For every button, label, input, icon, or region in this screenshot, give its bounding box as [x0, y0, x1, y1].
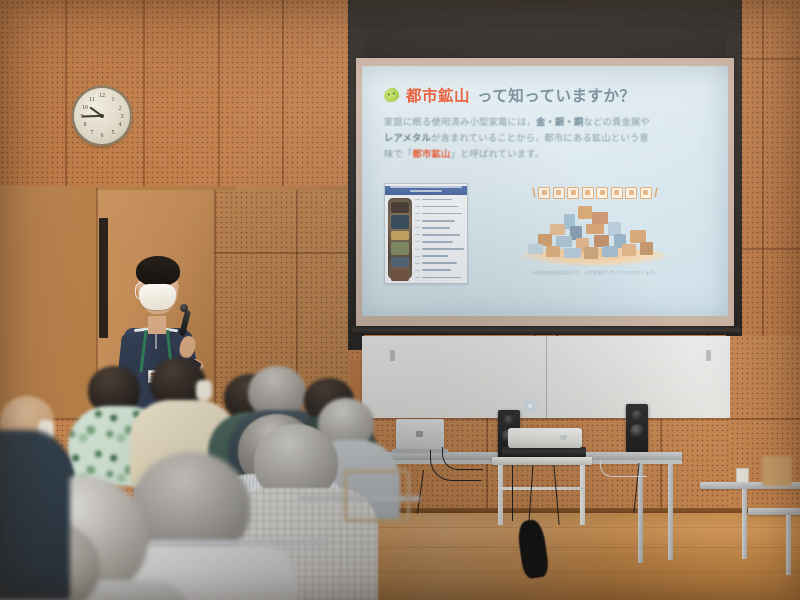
- clock-numeral: 4: [116, 121, 124, 129]
- headline-char: [611, 187, 623, 199]
- wall-seam: [214, 252, 350, 254]
- whiteboard-clip: [390, 350, 395, 361]
- slide-title-rest: って知っていますか？: [477, 84, 635, 106]
- diagram-header-bar: [385, 186, 467, 195]
- white-face-mask: [139, 284, 176, 310]
- silver-laptop[interactable]: [396, 419, 444, 451]
- slide-title-highlight: 都市鉱山: [406, 84, 470, 106]
- diagram-label-row: [415, 220, 464, 221]
- wall-clock: 12 1 2 3 4 5 6 7 8 9 10 11: [74, 88, 130, 144]
- body-seg: が含まれていることから，都市にある: [431, 133, 592, 143]
- pile-headline: \ /: [484, 185, 706, 200]
- clock-numeral: 3: [118, 113, 126, 121]
- cable: [512, 465, 513, 521]
- small-appliance-pile-illustration: \ /: [484, 183, 706, 284]
- clock-numeral: 1: [109, 96, 117, 104]
- wall-seam: [218, 0, 220, 200]
- wall-seam: [660, 418, 662, 514]
- pile-caption: ※自治体の回収品目より、小型家電がリサイクルされています。: [484, 270, 706, 276]
- clock-numeral: 10: [81, 104, 89, 112]
- presenter-hair: [136, 256, 180, 286]
- disassembled-phone-image: [388, 198, 412, 279]
- speaker-tweeter: [504, 415, 514, 425]
- presenter-neck: [148, 316, 166, 334]
- slide-title: 都市鉱山 って知っていますか？: [384, 84, 706, 106]
- projector-table-top: [492, 457, 592, 465]
- clock-numeral: 12: [98, 92, 106, 100]
- headline-char: [567, 187, 579, 199]
- clock-numeral: 11: [88, 96, 96, 104]
- leaf-character-icon: [383, 87, 401, 104]
- projector-lens: [560, 435, 567, 440]
- clock-numeral: 7: [88, 129, 96, 137]
- mask-ear-loop: [135, 282, 142, 300]
- diagram-label-row: [415, 248, 464, 249]
- diagram-label-row: [415, 277, 464, 278]
- headline-char: [596, 187, 608, 199]
- cable: [430, 450, 481, 481]
- wall-seam: [282, 0, 284, 196]
- projector-base-device: [502, 447, 586, 457]
- diagram-label-row: [415, 241, 464, 242]
- speaker-stand-leg: [638, 463, 643, 563]
- wall-seam: [486, 418, 488, 514]
- wall-seam: [65, 0, 67, 200]
- slide-figures: \ /: [384, 183, 706, 284]
- diagram-label-row: [415, 234, 464, 235]
- body-seg: などの貴: [583, 117, 621, 127]
- body-seg: 」と呼ばれています。: [451, 149, 545, 159]
- slash-left-icon: \: [532, 185, 536, 200]
- headline-char: [538, 187, 550, 199]
- body-seg-bold: 金・銀・銅: [536, 117, 584, 127]
- presentation-slide: 都市鉱山 って知っていますか？ 家庭に眠る使用済み小型家電には，金・銀・銅などの…: [362, 66, 728, 316]
- face-mask: [196, 380, 212, 400]
- diagram-label-row: [415, 213, 464, 214]
- headline-char: [582, 187, 594, 199]
- long-table-leg: [668, 464, 673, 560]
- diagram-label-row: [415, 227, 464, 228]
- body-seg: 金属や: [621, 117, 650, 127]
- folding-table-leg: [742, 489, 747, 559]
- mobile-phone-rare-metal-diagram: [384, 183, 468, 284]
- wall-seam: [143, 0, 145, 200]
- diagram-body: [385, 195, 467, 282]
- black-speaker-on-stand: [626, 404, 648, 456]
- diagram-label-row: [415, 255, 464, 256]
- whiteboard-clip: [706, 350, 711, 361]
- projector-table-leg: [498, 465, 503, 525]
- clock-numeral: 2: [116, 105, 124, 113]
- clock-numeral: 5: [109, 129, 117, 137]
- projector-beam-glint: [528, 404, 532, 408]
- laptop-logo: [416, 431, 423, 437]
- diagram-label-row: [415, 269, 464, 270]
- appliance-pile-art: [520, 204, 670, 266]
- white-cable: [600, 460, 647, 477]
- wall-seam: [762, 0, 764, 360]
- headline-char: [625, 187, 637, 199]
- clock-center: [100, 114, 104, 118]
- microphone-head: [180, 304, 188, 312]
- shoulders: [0, 430, 70, 600]
- slash-right-icon: /: [654, 185, 658, 200]
- diagram-label-list: [415, 198, 464, 279]
- wall-slot: [99, 218, 108, 338]
- headline-char: [553, 187, 565, 199]
- headline-char: [640, 187, 652, 199]
- white-projector[interactable]: [508, 428, 582, 448]
- speaker-tweeter: [632, 410, 642, 420]
- body-seg-red: 都市鉱山: [413, 149, 451, 159]
- projection-screen-surface: 都市鉱山 って知っていますか？ 家庭に眠る使用済み小型家電には，金・銀・銅などの…: [362, 66, 728, 316]
- diagram-label-row: [415, 206, 464, 207]
- speaker-woofer: [630, 424, 645, 439]
- projection-screen-frame: 都市鉱山 って知っていますか？ 家庭に眠る使用済み小型家電には，金・銀・銅などの…: [356, 58, 734, 326]
- ear: [176, 284, 179, 290]
- diagram-label-row: [415, 199, 464, 200]
- folding-table-top: [748, 508, 800, 515]
- table-edge: [150, 540, 330, 546]
- projector-table-leg: [580, 465, 585, 525]
- body-seg-bold: レアメタル: [384, 133, 431, 143]
- body-seg: 家庭に眠る使用済み小型家電には，: [384, 117, 536, 127]
- clock-numeral: 6: [98, 132, 106, 140]
- folding-table-leg: [786, 515, 791, 575]
- slide-body-text: 家庭に眠る使用済み小型家電には，金・銀・銅などの貴金属やレアメタルが含まれている…: [384, 115, 656, 163]
- clock-numeral: 8: [81, 121, 89, 129]
- chair-back: [762, 456, 792, 486]
- diagram-label-row: [415, 262, 464, 263]
- lecture-hall-photo: 12 1 2 3 4 5 6 7 8 9 10 11 都市鉱山 って知っています…: [0, 0, 800, 600]
- chair-frame: [344, 470, 410, 522]
- stage-header-dark: [348, 0, 742, 62]
